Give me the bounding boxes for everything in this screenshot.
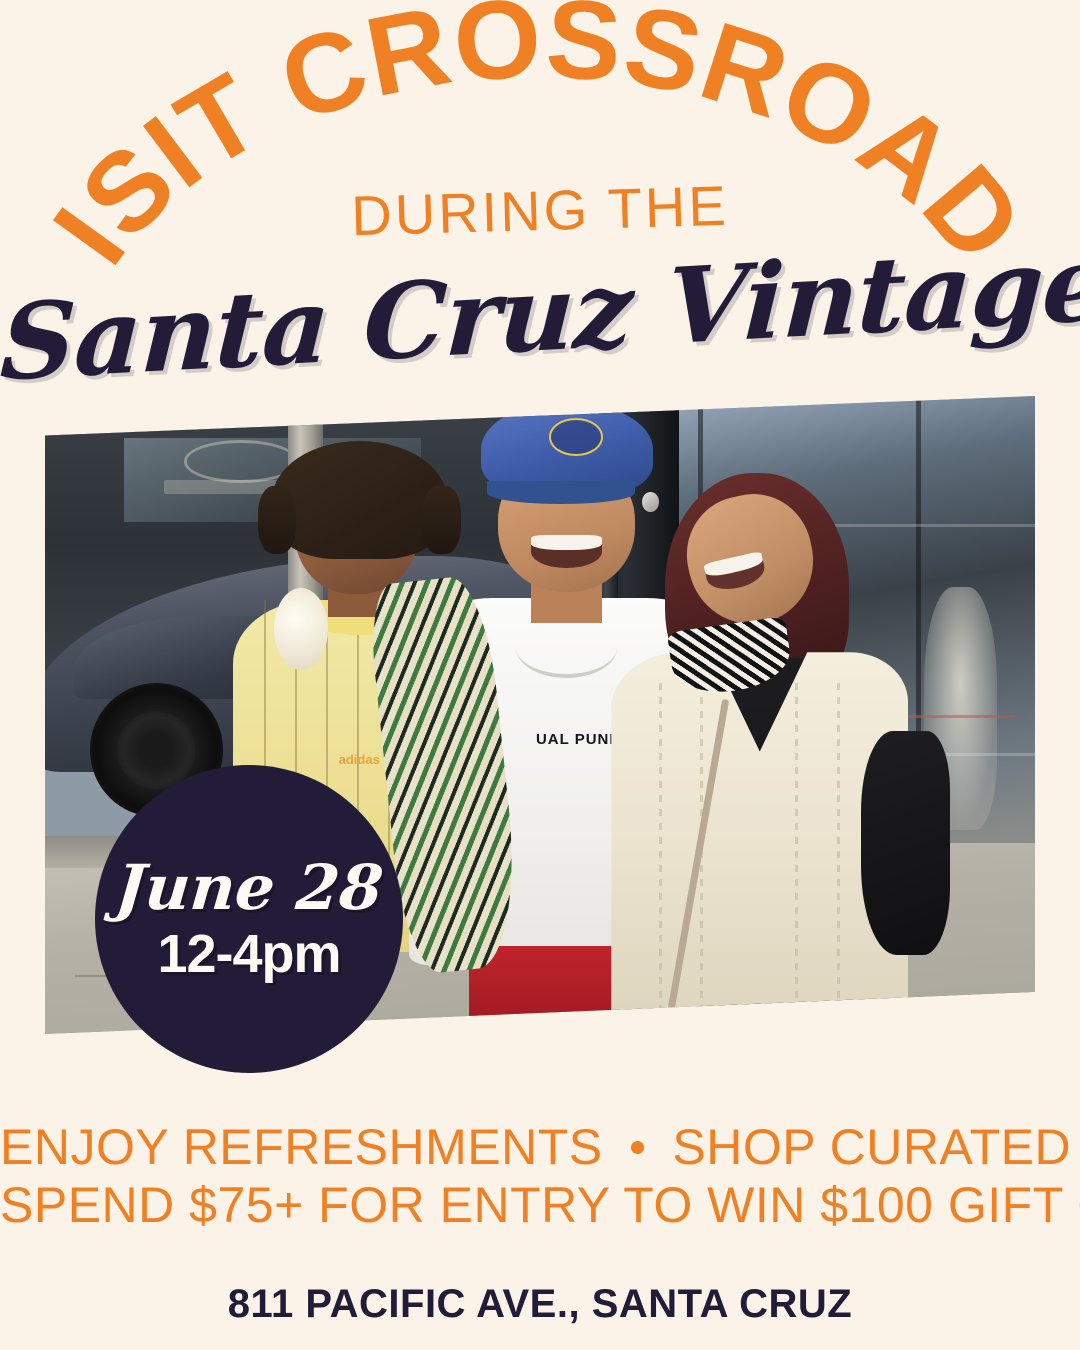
- offer-line-2: SPEND $75+ FOR ENTRY TO WIN $100 GIFT CA…: [0, 1176, 1080, 1234]
- arm: [861, 731, 950, 956]
- poster: VISIT CROSSROADS DURING THE Santa Cruz V…: [0, 0, 1080, 1350]
- wheel-hub: [118, 711, 196, 789]
- offers-block: ENJOY REFRESHMENTS SHOP CURATED RACKS SP…: [0, 1118, 1080, 1234]
- date-badge: June 28 12-4pm: [95, 765, 403, 1073]
- flower-corsage: [274, 588, 328, 670]
- photo-subject-right-woman: [629, 473, 926, 1034]
- chain-necklace: [516, 617, 617, 678]
- badge-time: 12-4pm: [157, 927, 340, 981]
- badge-date: June 28: [113, 857, 385, 919]
- offer-line-1: ENJOY REFRESHMENTS SHOP CURATED RACKS: [0, 1118, 1080, 1176]
- venue-address: 811 PACIFIC AVE., SANTA CRUZ: [0, 1282, 1080, 1327]
- cap-emblem-icon: [549, 418, 603, 456]
- offer-curated-racks: SHOP CURATED RACKS: [672, 1119, 1080, 1175]
- cap-brim: [487, 481, 636, 504]
- bullet-separator-icon: [631, 1141, 644, 1154]
- open-smile: [531, 535, 602, 568]
- teeth: [531, 535, 602, 550]
- offer-refreshments: ENJOY REFRESHMENTS: [0, 1119, 603, 1175]
